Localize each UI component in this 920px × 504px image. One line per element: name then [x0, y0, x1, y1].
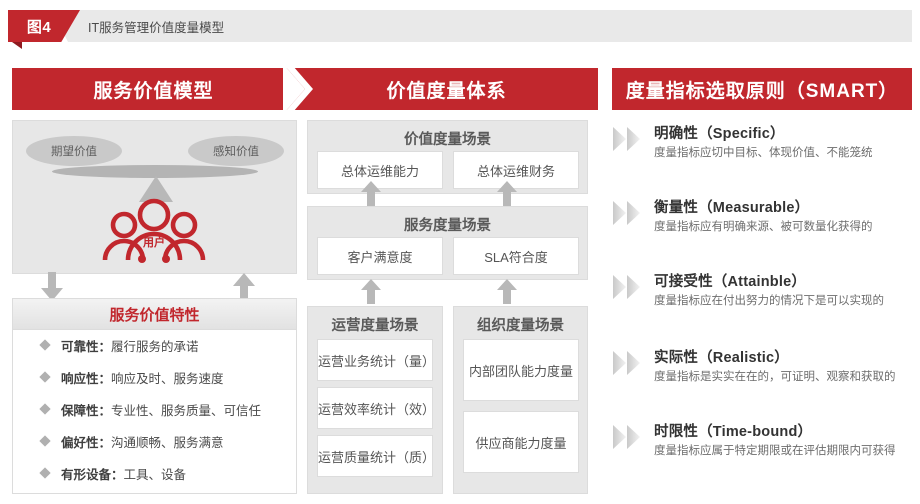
figure-number-label: 图4: [8, 10, 70, 42]
diamond-bullet-icon: [39, 435, 50, 446]
diamond-bullet-icon: [39, 403, 50, 414]
feature-name: 保障性：: [61, 400, 111, 419]
scene-box: 运营业务统计（量）: [317, 339, 433, 381]
principle-title: 衡量性（Measurable）: [654, 196, 809, 217]
principle-title: 时限性（Time-bound）: [654, 420, 812, 441]
principle-desc: 度量指标应在付出努力的情况下是可以实现的: [654, 292, 884, 308]
scene-box: 客户满意度: [317, 237, 443, 275]
principle-title: 实际性（Realistic）: [654, 346, 789, 367]
figure-title: IT服务管理价值度量模型: [88, 10, 224, 42]
feature-desc: 工具、设备: [124, 464, 187, 483]
arrow-up-icon: [496, 278, 518, 304]
scene-box: 运营质量统计（质）: [317, 435, 433, 477]
list-item: 保障性： 专业性、服务质量、可信任: [13, 393, 296, 425]
expected-value-bubble: 期望价值: [26, 136, 122, 166]
service-value-features-panel: 服务价值特性 可靠性： 履行服务的承诺 响应性： 响应及时、服务速度 保障性： …: [12, 298, 297, 494]
arrow-up-icon: [360, 278, 382, 304]
double-chevron-icon: [612, 200, 646, 226]
feature-desc: 专业性、服务质量、可信任: [111, 400, 261, 419]
perceived-value-bubble: 感知价值: [188, 136, 284, 166]
header-smart-principles: 度量指标选取原则（SMART）: [612, 68, 912, 110]
list-item: 响应性： 响应及时、服务速度: [13, 361, 296, 393]
list-item: 偏好性： 沟通顺畅、服务满意: [13, 425, 296, 457]
badge-tail: [12, 42, 22, 49]
principle-desc: 度量指标应切中目标、体现价值、不能笼统: [654, 144, 873, 160]
panel-title: 服务度量场景: [308, 214, 587, 235]
double-chevron-icon: [612, 424, 646, 450]
list-item: 有形设备： 工具、设备: [13, 457, 296, 489]
value-measure-scene-panel: 价值度量场景 总体运维能力 总体运维财务: [307, 120, 588, 194]
feature-name: 可靠性：: [61, 336, 111, 355]
principle-title: 可接受性（Attainble）: [654, 270, 806, 291]
list-item: 可靠性： 履行服务的承诺: [13, 329, 296, 361]
header-measure-system: 价值度量体系: [295, 68, 598, 110]
principle-desc: 度量指标应属于特定期限或在评估期限内可获得: [654, 442, 896, 458]
diamond-bullet-icon: [39, 339, 50, 350]
diamond-bullet-icon: [39, 467, 50, 478]
arrow-up-icon: [360, 180, 382, 206]
users-group-icon: [100, 198, 208, 264]
scene-box: SLA符合度: [453, 237, 579, 275]
feature-desc: 履行服务的承诺: [111, 336, 199, 355]
feature-desc: 响应及时、服务速度: [111, 368, 224, 387]
header-value-model: 服务价值模型: [12, 68, 295, 110]
arrow-up-icon: [496, 180, 518, 206]
principle-desc: 度量指标是实实在在的，可证明、观察和获取的: [654, 368, 896, 384]
double-chevron-icon: [612, 126, 646, 152]
figure-header: 图4 IT服务管理价值度量模型: [8, 10, 912, 42]
diamond-bullet-icon: [39, 371, 50, 382]
double-chevron-icon: [612, 350, 646, 376]
panel-title: 价值度量场景: [308, 128, 587, 149]
panel-title: 运营度量场景: [308, 314, 442, 335]
scene-box: 内部团队能力度量: [463, 339, 579, 401]
figure-canvas: 图4 IT服务管理价值度量模型 服务价值模型 价值度量体系 度量指标选取原则（S…: [0, 0, 920, 504]
feature-name: 响应性：: [61, 368, 111, 387]
feature-name: 偏好性：: [61, 432, 111, 451]
users-label: 用户: [100, 234, 208, 250]
feature-desc: 沟通顺畅、服务满意: [111, 432, 224, 451]
panel-title: 组织度量场景: [454, 314, 587, 335]
double-chevron-icon: [612, 274, 646, 300]
organization-measure-scene-panel: 组织度量场景 内部团队能力度量 供应商能力度量: [453, 306, 588, 494]
scene-box: 供应商能力度量: [463, 411, 579, 473]
service-measure-scene-panel: 服务度量场景 客户满意度 SLA符合度: [307, 206, 588, 280]
scene-box: 运营效率统计（效）: [317, 387, 433, 429]
features-list: 可靠性： 履行服务的承诺 响应性： 响应及时、服务速度 保障性： 专业性、服务质…: [13, 329, 296, 489]
features-title: 服务价值特性: [13, 299, 296, 330]
feature-name: 有形设备：: [61, 464, 124, 483]
operation-measure-scene-panel: 运营度量场景 运营业务统计（量） 运营效率统计（效） 运营质量统计（质）: [307, 306, 443, 494]
principle-desc: 度量指标应有明确来源、被可数量化获得的: [654, 218, 873, 234]
principle-title: 明确性（Specific）: [654, 122, 785, 143]
